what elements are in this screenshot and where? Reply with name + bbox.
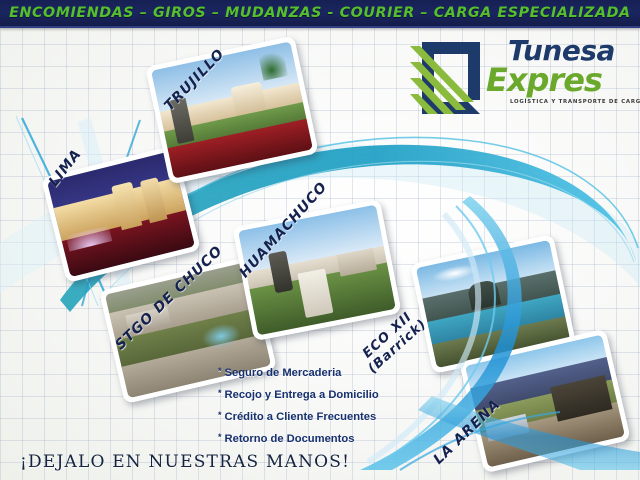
photo-image-huamachuco (238, 205, 396, 336)
service-label: Crédito a Cliente Frecuentes (225, 411, 377, 423)
bullet-marker-icon: * (218, 388, 222, 398)
services-list: *Seguro de Mercaderia *Recojo y Entrega … (218, 366, 379, 454)
service-label: Recojo y Entrega a Domicilio (225, 389, 379, 401)
bullet-marker-icon: * (218, 410, 222, 420)
header-banner-text: ENCOMIENDAS – GIROS – MUDANZAS - COURIER… (9, 5, 631, 21)
logo-wordmark: Tunesa Expres LOGÍSTICA Y TRANSPORTE DE … (486, 38, 636, 118)
bullet-marker-icon: * (218, 366, 222, 376)
poster-canvas: ENCOMIENDAS – GIROS – MUDANZAS - COURIER… (0, 0, 640, 480)
service-label: Retorno de Documentos (225, 433, 355, 445)
bullet-marker-icon: * (218, 432, 222, 442)
logo-arrow-mark (404, 36, 488, 120)
service-item: *Crédito a Cliente Frecuentes (218, 410, 379, 423)
header-banner: ENCOMIENDAS – GIROS – MUDANZAS - COURIER… (0, 0, 640, 28)
slogan-text: ¡DEJALO EN NUESTRAS MANOS! (20, 452, 350, 472)
service-label: Seguro de Mercaderia (225, 367, 342, 379)
company-logo: Tunesa Expres LOGÍSTICA Y TRANSPORTE DE … (404, 34, 636, 126)
service-item: *Recojo y Entrega a Domicilio (218, 388, 379, 401)
logo-name-bottom: Expres (486, 65, 636, 95)
service-item: *Seguro de Mercaderia (218, 366, 379, 379)
service-item: *Retorno de Documentos (218, 432, 379, 445)
logo-tagline: LOGÍSTICA Y TRANSPORTE DE CARGA (510, 99, 636, 105)
